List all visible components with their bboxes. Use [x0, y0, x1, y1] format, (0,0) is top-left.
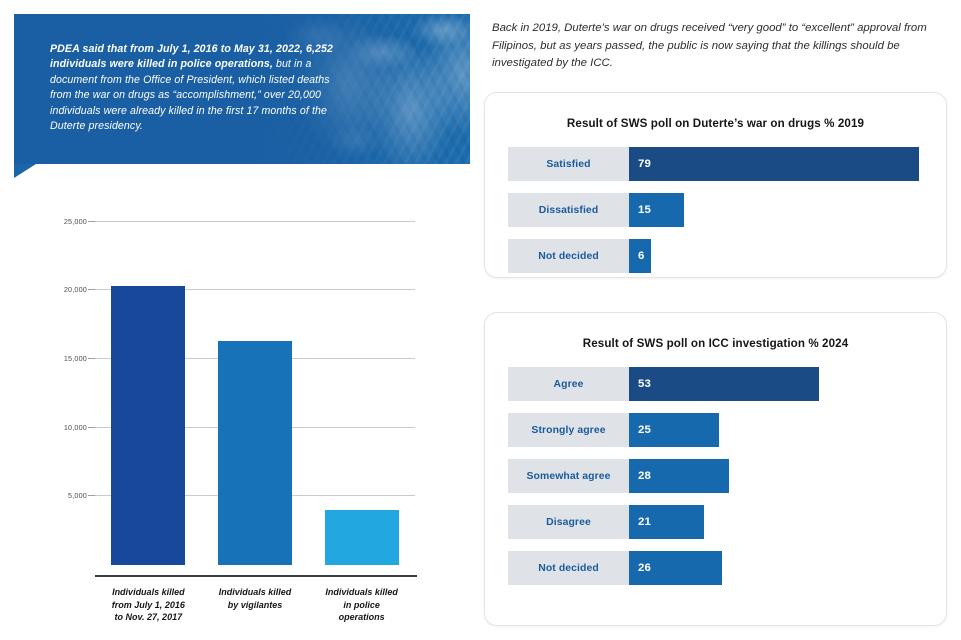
bar-2: [218, 341, 292, 565]
poll-row-label: Satisfied: [508, 147, 629, 181]
poll-row: Not decided26: [508, 551, 923, 585]
poll-card-2019: Result of SWS poll on Duterte’s war on d…: [484, 92, 947, 278]
poll-row-value: 15: [629, 204, 651, 216]
poll-row-label: Dissatisfied: [508, 193, 629, 227]
y-axis-tick-label: 15,000: [41, 354, 87, 363]
poll-row: Dissatisfied15: [508, 193, 923, 227]
x-axis-label-line: by vigilantes: [200, 599, 310, 612]
poll-row-value: 79: [629, 158, 651, 170]
poll-row-bar: 25: [629, 413, 719, 447]
x-axis-label-line: from July 1, 2016: [93, 599, 203, 612]
x-axis-label-line: Individuals killed: [200, 586, 310, 599]
poll-row-bar: 53: [629, 367, 819, 401]
y-axis-tick-label: 25,000: [41, 217, 87, 226]
bar-3: [325, 510, 399, 565]
poll-row-bar: 15: [629, 193, 684, 227]
y-axis-tick-label: 5,000: [41, 491, 87, 500]
poll-row-value: 25: [629, 424, 651, 436]
poll-row-value: 28: [629, 470, 651, 482]
poll-row-label: Not decided: [508, 551, 629, 585]
x-axis-label-line: Individuals killed: [307, 586, 417, 599]
poll-row-label: Somewhat agree: [508, 459, 629, 493]
poll-row-value: 6: [629, 250, 645, 262]
poll-title-2019: Result of SWS poll on Duterte’s war on d…: [485, 117, 946, 130]
poll-rows-2019: Satisfied79Dissatisfied15Not decided6: [508, 147, 923, 273]
poll-card-2024: Result of SWS poll on ICC investigation …: [484, 312, 947, 626]
quote-callout-card: PDEA said that from July 1, 2016 to May …: [14, 14, 470, 164]
poll-row: Satisfied79: [508, 147, 923, 181]
poll-row-label: Not decided: [508, 239, 629, 273]
bar-1: [111, 286, 185, 565]
poll-row-label: Agree: [508, 367, 629, 401]
x-axis-label-line: Individuals killed: [93, 586, 203, 599]
gridline-25000: 25,000: [95, 221, 415, 222]
poll-row-bar: 79: [629, 147, 919, 181]
tick-mark: [88, 221, 95, 222]
poll-rows-2024: Agree53Strongly agree25Somewhat agree28D…: [508, 367, 923, 585]
poll-row: Disagree21: [508, 505, 923, 539]
x-axis-label-line: in police: [307, 599, 417, 612]
right-column: Back in 2019, Duterte’s war on drugs rec…: [470, 0, 961, 640]
poll-row-label: Strongly agree: [508, 413, 629, 447]
killings-bar-chart: 5,00010,00015,00020,00025,000 Individual…: [0, 190, 470, 640]
tick-mark: [88, 358, 95, 359]
poll-row: Agree53: [508, 367, 923, 401]
tick-mark: [88, 495, 95, 496]
poll-row-bar: 26: [629, 551, 722, 585]
poll-row: Somewhat agree28: [508, 459, 923, 493]
quote-text: PDEA said that from July 1, 2016 to May …: [50, 42, 340, 134]
poll-row-value: 26: [629, 562, 651, 574]
poll-title-2024: Result of SWS poll on ICC investigation …: [485, 337, 946, 350]
poll-row-bar: 21: [629, 505, 704, 539]
x-axis-label-3: Individuals killedin policeoperations: [307, 586, 417, 624]
poll-row-bar: 28: [629, 459, 729, 493]
bar-chart-x-axis: [95, 575, 417, 577]
x-axis-label-2: Individuals killedby vigilantes: [200, 586, 310, 611]
poll-row-label: Disagree: [508, 505, 629, 539]
intro-paragraph: Back in 2019, Duterte’s war on drugs rec…: [492, 20, 947, 73]
tick-mark: [88, 289, 95, 290]
left-column: PDEA said that from July 1, 2016 to May …: [0, 0, 470, 640]
poll-row-bar: 6: [629, 239, 651, 273]
bar-chart-plot-area: 5,00010,00015,00020,00025,000: [95, 208, 415, 565]
y-axis-tick-label: 20,000: [41, 285, 87, 294]
x-axis-label-line: operations: [307, 611, 417, 624]
y-axis-tick-label: 10,000: [41, 423, 87, 432]
poll-row: Strongly agree25: [508, 413, 923, 447]
poll-row-value: 53: [629, 378, 651, 390]
tick-mark: [88, 427, 95, 428]
x-axis-label-line: to Nov. 27, 2017: [93, 611, 203, 624]
poll-row-value: 21: [629, 516, 651, 528]
x-axis-label-1: Individuals killedfrom July 1, 2016to No…: [93, 586, 203, 624]
poll-row: Not decided6: [508, 239, 923, 273]
quote-bubble-tail: [14, 164, 36, 178]
